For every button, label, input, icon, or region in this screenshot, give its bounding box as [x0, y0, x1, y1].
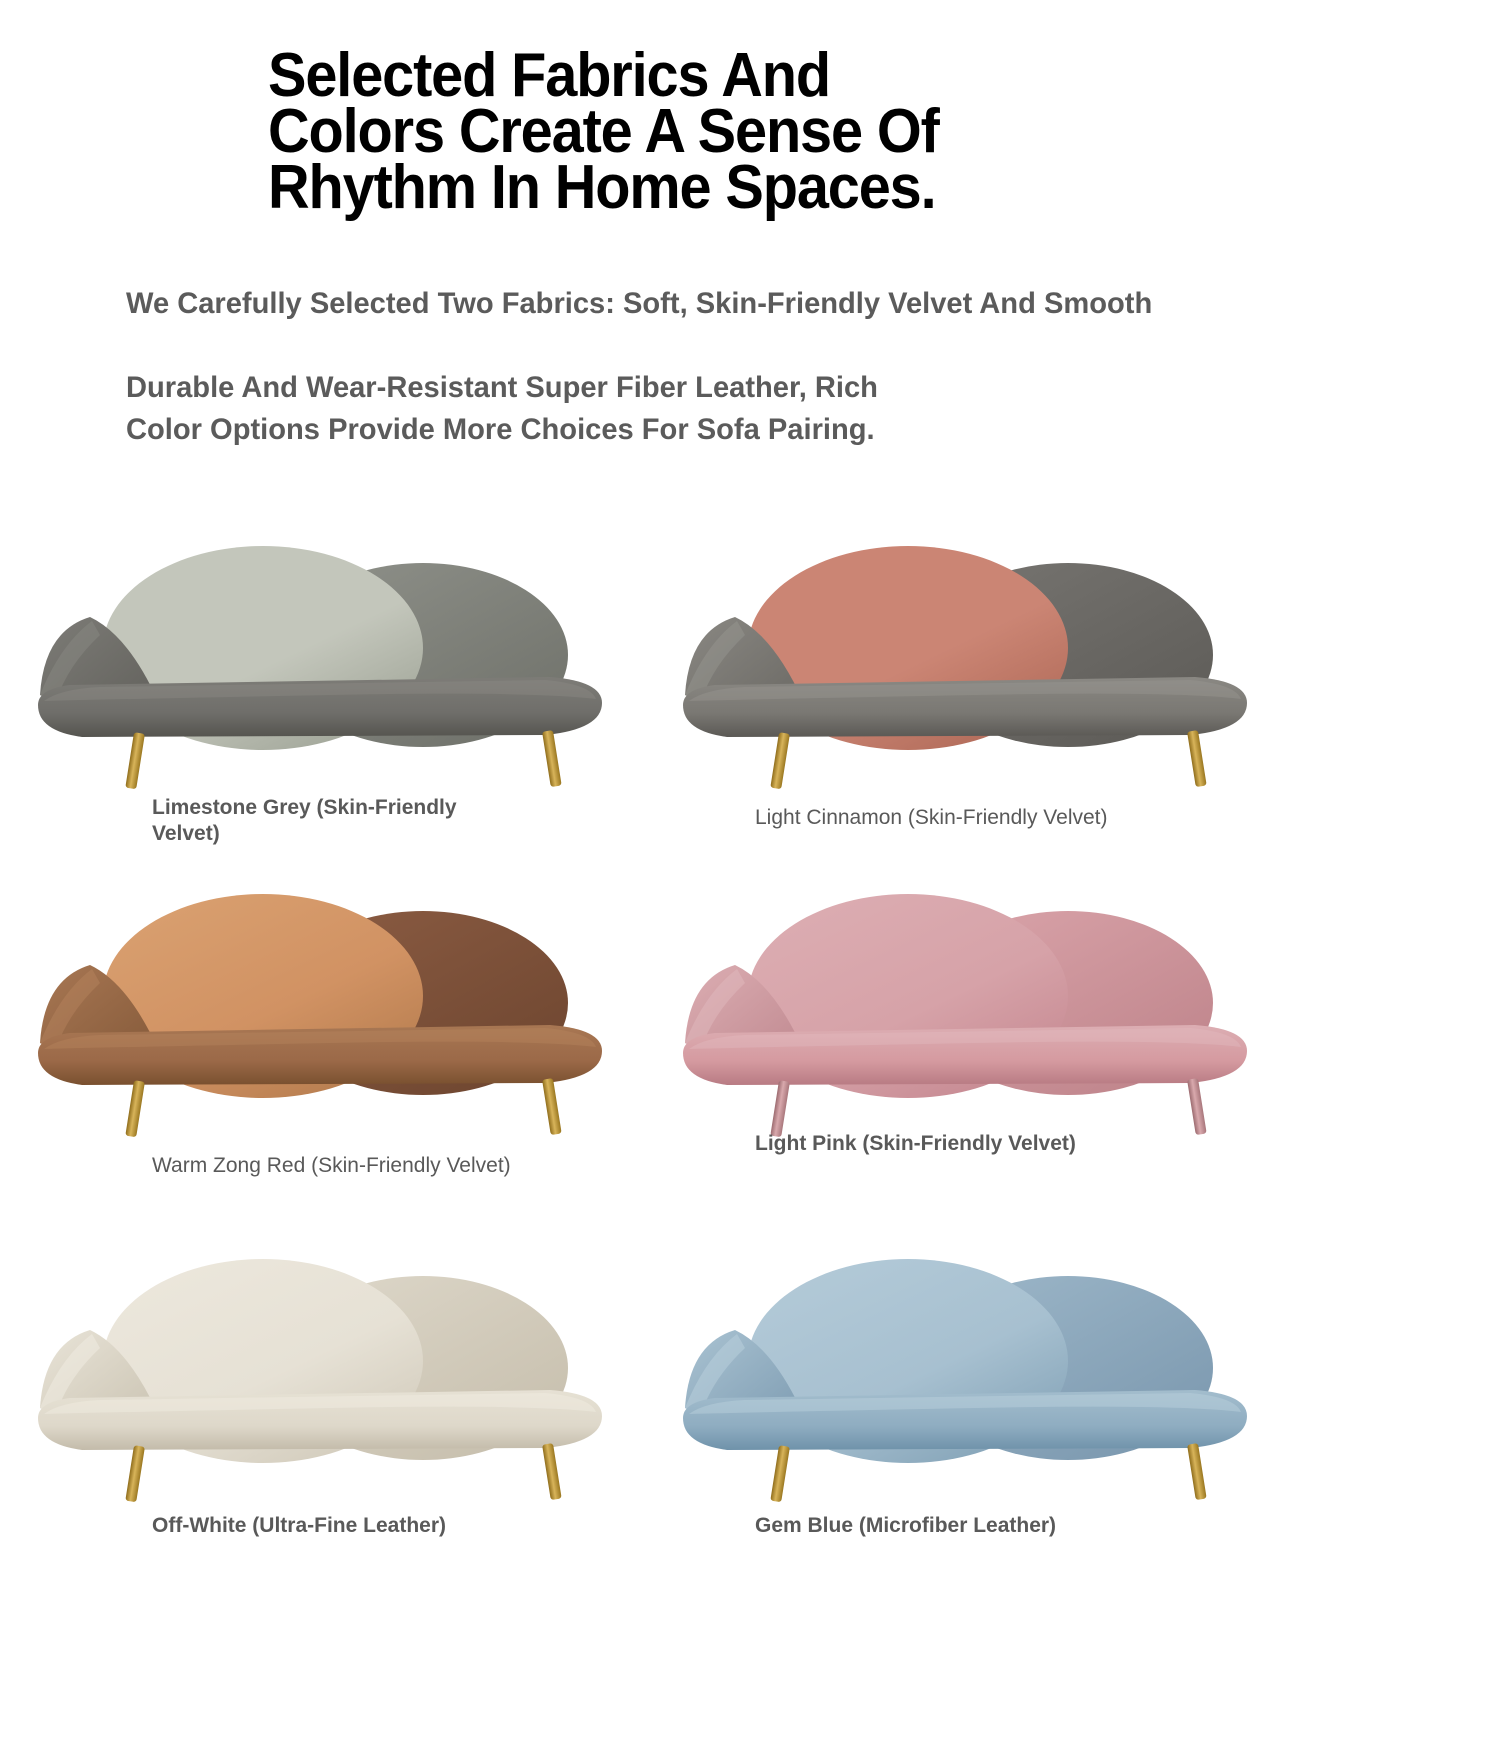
product-card-light-cinnamon[interactable]: Light Cinnamon (Skin-Friendly Velvet): [655, 505, 1295, 875]
sofa-illustration: [675, 853, 1255, 1143]
product-caption-limestone-grey: Limestone Grey (Skin-Friendly Velvet): [152, 795, 482, 847]
page-title: Selected Fabrics And Colors Create A Sen…: [268, 48, 1198, 216]
sofa-image-light-pink[interactable]: [675, 853, 1255, 1143]
product-caption-warm-zong-red: Warm Zong Red (Skin-Friendly Velvet): [152, 1153, 552, 1179]
sofa-illustration: [30, 505, 610, 795]
sofa-illustration: [675, 505, 1255, 795]
product-card-limestone-grey[interactable]: Limestone Grey (Skin-Friendly Velvet): [30, 505, 670, 875]
page-title-line-2: Colors Create A Sense Of: [268, 104, 1198, 160]
page-title-line-1: Selected Fabrics And: [268, 48, 1198, 104]
subtitle-line-1: We Carefully Selected Two Fabrics: Soft,…: [126, 283, 1500, 325]
product-card-warm-zong-red[interactable]: Warm Zong Red (Skin-Friendly Velvet): [30, 853, 670, 1223]
subtitle-paragraph-2-line-2: Color Options Provide More Choices For S…: [126, 409, 1057, 451]
page-title-line-3: Rhythm In Home Spaces.: [268, 160, 1198, 216]
product-card-light-pink[interactable]: Light Pink (Skin-Friendly Velvet): [655, 853, 1295, 1223]
product-card-off-white[interactable]: Off-White (Ultra-Fine Leather): [30, 1218, 670, 1588]
product-card-gem-blue[interactable]: Gem Blue (Microfiber Leather): [655, 1218, 1295, 1588]
sofa-image-warm-zong-red[interactable]: [30, 853, 610, 1143]
sofa-illustration: [30, 853, 610, 1143]
subtitle-paragraph-2: Durable And Wear-Resistant Super Fiber L…: [126, 367, 1057, 451]
subtitle-paragraph-2-line-1: Durable And Wear-Resistant Super Fiber L…: [126, 367, 1057, 409]
sofa-illustration: [675, 1218, 1255, 1508]
product-caption-gem-blue: Gem Blue (Microfiber Leather): [755, 1513, 1155, 1539]
sofa-illustration: [30, 1218, 610, 1508]
product-caption-light-pink: Light Pink (Skin-Friendly Velvet): [755, 1131, 1085, 1157]
sofa-image-gem-blue[interactable]: [675, 1218, 1255, 1508]
sofa-image-off-white[interactable]: [30, 1218, 610, 1508]
sofa-image-limestone-grey[interactable]: [30, 505, 610, 795]
product-caption-light-cinnamon: Light Cinnamon (Skin-Friendly Velvet): [755, 805, 1155, 831]
sofa-image-light-cinnamon[interactable]: [675, 505, 1255, 795]
product-caption-off-white: Off-White (Ultra-Fine Leather): [152, 1513, 552, 1539]
